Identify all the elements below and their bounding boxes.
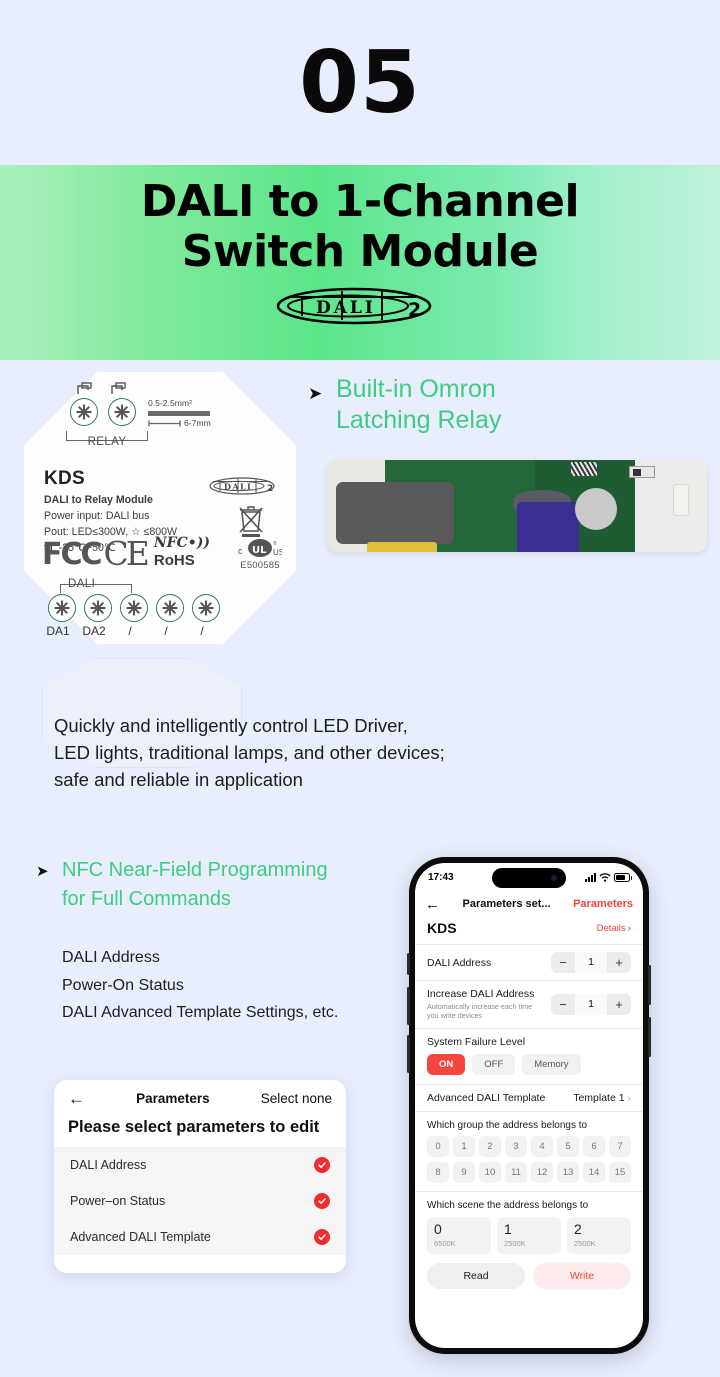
feature-nfc-line2: for Full Commands	[62, 888, 231, 910]
settings-panel: DALI Address − 1 + Increase DALI Address…	[415, 945, 643, 1299]
list-item[interactable]: DALI Address	[54, 1147, 346, 1183]
phone-volume-up-button[interactable]	[407, 987, 410, 1025]
scene-number: 1	[504, 1222, 554, 1237]
section-number: 05	[299, 40, 421, 126]
param-card-navbar: ← Parameters Select none	[54, 1080, 346, 1116]
stepper-value[interactable]: 1	[575, 994, 607, 1015]
module-line2: Power input: DALI bus	[44, 508, 177, 524]
status-time: 17:43	[428, 872, 454, 883]
wire-spec: 0.5-2.5mm² 6-7mm	[148, 397, 211, 430]
group-cell[interactable]: 15	[609, 1162, 631, 1183]
nfc-mark: NFC•))	[154, 535, 210, 551]
svg-text:DALI: DALI	[316, 298, 376, 318]
relay-terminals	[70, 398, 136, 426]
svg-text:2: 2	[408, 299, 421, 321]
omron-relay-body	[336, 482, 454, 544]
pcb-yellow-component	[367, 542, 437, 552]
segment-memory[interactable]: Memory	[522, 1054, 580, 1075]
group-cell[interactable]: 7	[609, 1136, 631, 1157]
segment-off[interactable]: OFF	[472, 1054, 515, 1075]
phone-mute-switch[interactable]	[407, 953, 410, 975]
feature-nfc-line1: NFC Near-Field Programming	[62, 859, 328, 881]
list-item[interactable]: Power–on Status	[54, 1183, 346, 1219]
group-cell[interactable]: 3	[505, 1136, 527, 1157]
group-cell[interactable]: 12	[531, 1162, 553, 1183]
screw-terminal	[70, 398, 98, 426]
status-bar: 17:43	[415, 863, 643, 891]
stepper-value[interactable]: 1	[575, 952, 607, 973]
relay-terminal-icons	[74, 382, 146, 396]
param-card-title: Parameters	[95, 1091, 251, 1106]
product-row: RELAY 0.5-2.5mm² 6-7mm KDS	[0, 360, 720, 660]
terminal-label: DA2	[80, 624, 108, 638]
template-value: Template 1 ›	[573, 1092, 631, 1104]
wire-length-arrow	[148, 420, 182, 427]
wifi-icon	[599, 873, 611, 882]
screw-terminal	[108, 398, 136, 426]
svg-text:UL: UL	[252, 545, 267, 556]
product-title-line2: Switch Module	[182, 226, 538, 277]
stepper-plus-button[interactable]: +	[607, 994, 631, 1015]
details-label: Details	[597, 923, 626, 934]
ul-symbol: c UL US ®	[238, 538, 282, 560]
feature-relay-line2: Latching Relay	[336, 406, 501, 434]
ul-mark: c UL US ® E500585	[238, 538, 282, 571]
relay-label: RELAY	[64, 436, 150, 448]
screw-terminal	[156, 594, 184, 622]
template-label: Advanced DALI Template	[427, 1092, 545, 1104]
group-cell[interactable]: 13	[557, 1162, 579, 1183]
dali2-logo: DALI 2	[276, 286, 444, 326]
pcb-wound-coil	[571, 462, 597, 476]
dynamic-island	[492, 868, 566, 888]
system-failure-level-options: ON OFF Memory	[415, 1048, 643, 1084]
device-name: KDS	[427, 920, 457, 936]
parameters-button[interactable]: Parameters	[573, 898, 633, 910]
system-failure-level-label: System Failure Level	[415, 1029, 643, 1048]
svg-text:c: c	[238, 546, 243, 556]
group-cell[interactable]: 6	[583, 1136, 605, 1157]
product-title: DALI to 1-Channel Switch Module	[141, 177, 579, 276]
terminal-label: DA1	[44, 624, 72, 638]
dali-section-label: DALI	[68, 578, 95, 590]
ul-file-code: E500585	[238, 560, 282, 571]
read-button[interactable]: Read	[427, 1263, 525, 1289]
template-value-text: Template 1	[573, 1092, 624, 1104]
group-cell[interactable]: 10	[479, 1162, 501, 1183]
checkmark-icon[interactable]	[314, 1193, 330, 1209]
pcb-coil	[575, 488, 617, 530]
terminal-labels: DA1 DA2 / / /	[44, 624, 216, 638]
wire-bar	[148, 411, 210, 416]
dali-terminals	[48, 594, 220, 622]
write-button[interactable]: Write	[533, 1263, 631, 1289]
screw-terminal	[48, 594, 76, 622]
checkmark-icon[interactable]	[314, 1157, 330, 1173]
wire-spec-length: 6-7mm	[184, 417, 211, 429]
details-link[interactable]: Details ›	[597, 923, 631, 934]
phone-volume-down-button[interactable]	[407, 1035, 410, 1073]
certification-marks: FCC CE NFC•)) RoHS	[42, 534, 210, 570]
feature-nfc-heading: ➤ NFC Near-Field Programming for Full Co…	[36, 856, 416, 914]
group-cell[interactable]: 8	[427, 1162, 449, 1183]
cellular-signal-icon	[585, 873, 596, 882]
scene-kelvin: 2500K	[504, 1239, 554, 1248]
group-cell[interactable]: 14	[583, 1162, 605, 1183]
scene-card[interactable]: 1 2500K	[497, 1217, 561, 1254]
chevron-right-icon: ›	[628, 923, 631, 934]
back-arrow-icon[interactable]: ←	[68, 1090, 85, 1107]
scene-number: 0	[434, 1222, 484, 1237]
app-navbar: ← Parameters set... Parameters	[415, 891, 643, 917]
weee-bin-icon	[236, 504, 266, 538]
group-cell[interactable]: 5	[557, 1136, 579, 1157]
scene-cards: 0 6500K 1 2500K 2 2500K	[415, 1211, 643, 1254]
pcb-internal-photo	[327, 460, 707, 552]
fcc-mark: FCC	[42, 540, 101, 570]
device-header: KDS Details ›	[415, 917, 643, 944]
terminal-label: /	[116, 624, 144, 638]
module-dali2-logo: DALI 2	[208, 476, 280, 496]
pcb-chip	[629, 466, 655, 478]
product-description: Quickly and intelligently control LED Dr…	[54, 712, 654, 794]
list-item[interactable]: Advanced DALI Template	[54, 1219, 346, 1255]
parameters-select-card: ← Parameters Select none Please select p…	[54, 1080, 346, 1273]
rohs-mark: RoHS	[154, 552, 195, 569]
description-line1: Quickly and intelligently control LED Dr…	[54, 712, 654, 739]
param-card-subtitle: Please select parameters to edit	[54, 1116, 346, 1147]
chevron-right-icon: ›	[628, 1092, 632, 1104]
screw-terminal	[120, 594, 148, 622]
description-line3: safe and reliable in application	[54, 766, 654, 793]
status-indicators	[585, 873, 630, 882]
list-item: DALI Address	[62, 944, 338, 972]
feature-nfc-text: NFC Near-Field Programming for Full Comm…	[62, 856, 416, 914]
module-diagram: RELAY 0.5-2.5mm² 6-7mm KDS	[24, 372, 296, 644]
section-number-block: 05	[0, 0, 720, 165]
scene-card[interactable]: 0 6500K	[427, 1217, 491, 1254]
setting-row-increase-dali-address: Increase DALI Address Automatically incr…	[415, 981, 643, 1028]
battery-icon	[614, 873, 630, 882]
arrow-icon: ➤	[36, 862, 49, 880]
select-none-button[interactable]: Select none	[261, 1091, 332, 1106]
checkmark-icon[interactable]	[314, 1229, 330, 1245]
terminal-label: /	[152, 624, 180, 638]
phone-mockup: 17:43 ← Parameters set... Parameters	[409, 857, 649, 1354]
group-cell[interactable]: 1	[453, 1136, 475, 1157]
stepper-minus-button[interactable]: −	[551, 952, 575, 973]
pcb-capacitor	[517, 502, 579, 552]
group-cell[interactable]: 2	[479, 1136, 501, 1157]
param-card-list: DALI Address Power–on Status Advanced DA…	[54, 1147, 346, 1255]
feature-nfc-list: DALI Address Power-On Status DALI Advanc…	[62, 944, 338, 1027]
quantity-stepper[interactable]: − 1 +	[551, 994, 631, 1015]
group-grid-title: Which group the address belongs to	[415, 1112, 643, 1131]
quantity-stepper[interactable]: − 1 +	[551, 952, 631, 973]
terminal-label: /	[188, 624, 216, 638]
group-cell[interactable]: 11	[505, 1162, 527, 1183]
setting-sublabel: Automatically increase each time you wri…	[427, 1002, 537, 1021]
pcb-right-terminal	[673, 484, 689, 516]
stepper-plus-button[interactable]: +	[607, 952, 631, 973]
product-page: 05 DALI to 1-Channel Switch Module DALI …	[0, 0, 720, 1377]
group-cell[interactable]: 0	[427, 1136, 449, 1157]
app-nav-title: Parameters set...	[446, 898, 567, 910]
module-brand: KDS	[44, 468, 177, 490]
param-row-label: DALI Address	[70, 1158, 146, 1172]
scene-kelvin: 6500K	[434, 1239, 484, 1248]
param-row-label: Power–on Status	[70, 1194, 165, 1208]
wire-spec-gauge: 0.5-2.5mm²	[148, 398, 192, 408]
arrow-icon: ➤	[308, 384, 322, 404]
group-cell[interactable]: 9	[453, 1162, 475, 1183]
screw-terminal	[84, 594, 112, 622]
stepper-minus-button[interactable]: −	[551, 994, 575, 1015]
action-buttons: Read Write	[415, 1254, 643, 1299]
scene-card[interactable]: 2 2500K	[567, 1217, 631, 1254]
svg-text:2: 2	[267, 484, 273, 494]
setting-row-advanced-template[interactable]: Advanced DALI Template Template 1 ›	[415, 1085, 643, 1111]
feature-relay-text: Built-in Omron Latching Relay	[336, 374, 708, 435]
setting-label: Increase DALI Address	[427, 988, 537, 1000]
group-cell[interactable]: 4	[531, 1136, 553, 1157]
title-banner: DALI to 1-Channel Switch Module DALI 2	[0, 165, 720, 360]
back-arrow-icon[interactable]: ←	[425, 897, 440, 912]
description-line2: LED lights, traditional lamps, and other…	[54, 739, 654, 766]
nfc-rohs-block: NFC•)) RoHS	[154, 534, 210, 570]
list-item: Power-On Status	[62, 972, 338, 1000]
svg-text:DALI: DALI	[224, 482, 252, 492]
feature-relay-line1: Built-in Omron	[336, 375, 496, 403]
phone-screen: 17:43 ← Parameters set... Parameters	[415, 863, 643, 1348]
scene-number: 2	[574, 1222, 624, 1237]
param-row-label: Advanced DALI Template	[70, 1230, 211, 1244]
list-item: DALI Advanced Template Settings, etc.	[62, 999, 338, 1027]
setting-label: DALI Address	[427, 957, 491, 969]
scene-grid-title: Which scene the address belongs to	[415, 1192, 643, 1211]
module-line1: DALI to Relay Module	[44, 492, 177, 508]
setting-row-dali-address: DALI Address − 1 +	[415, 945, 643, 980]
screw-terminal	[192, 594, 220, 622]
segment-on[interactable]: ON	[427, 1054, 465, 1075]
scene-kelvin: 2500K	[574, 1239, 624, 1248]
group-grid-row-1: 0 1 2 3 4 5 6 7	[415, 1131, 643, 1157]
product-title-line1: DALI to 1-Channel	[141, 176, 579, 227]
svg-text:US: US	[273, 548, 282, 557]
group-grid-row-2: 8 9 10 11 12 13 14 15	[415, 1157, 643, 1183]
svg-text:®: ®	[273, 540, 277, 547]
feature-relay-heading: ➤ Built-in Omron Latching Relay	[308, 374, 708, 435]
ce-mark: CE	[104, 537, 147, 570]
